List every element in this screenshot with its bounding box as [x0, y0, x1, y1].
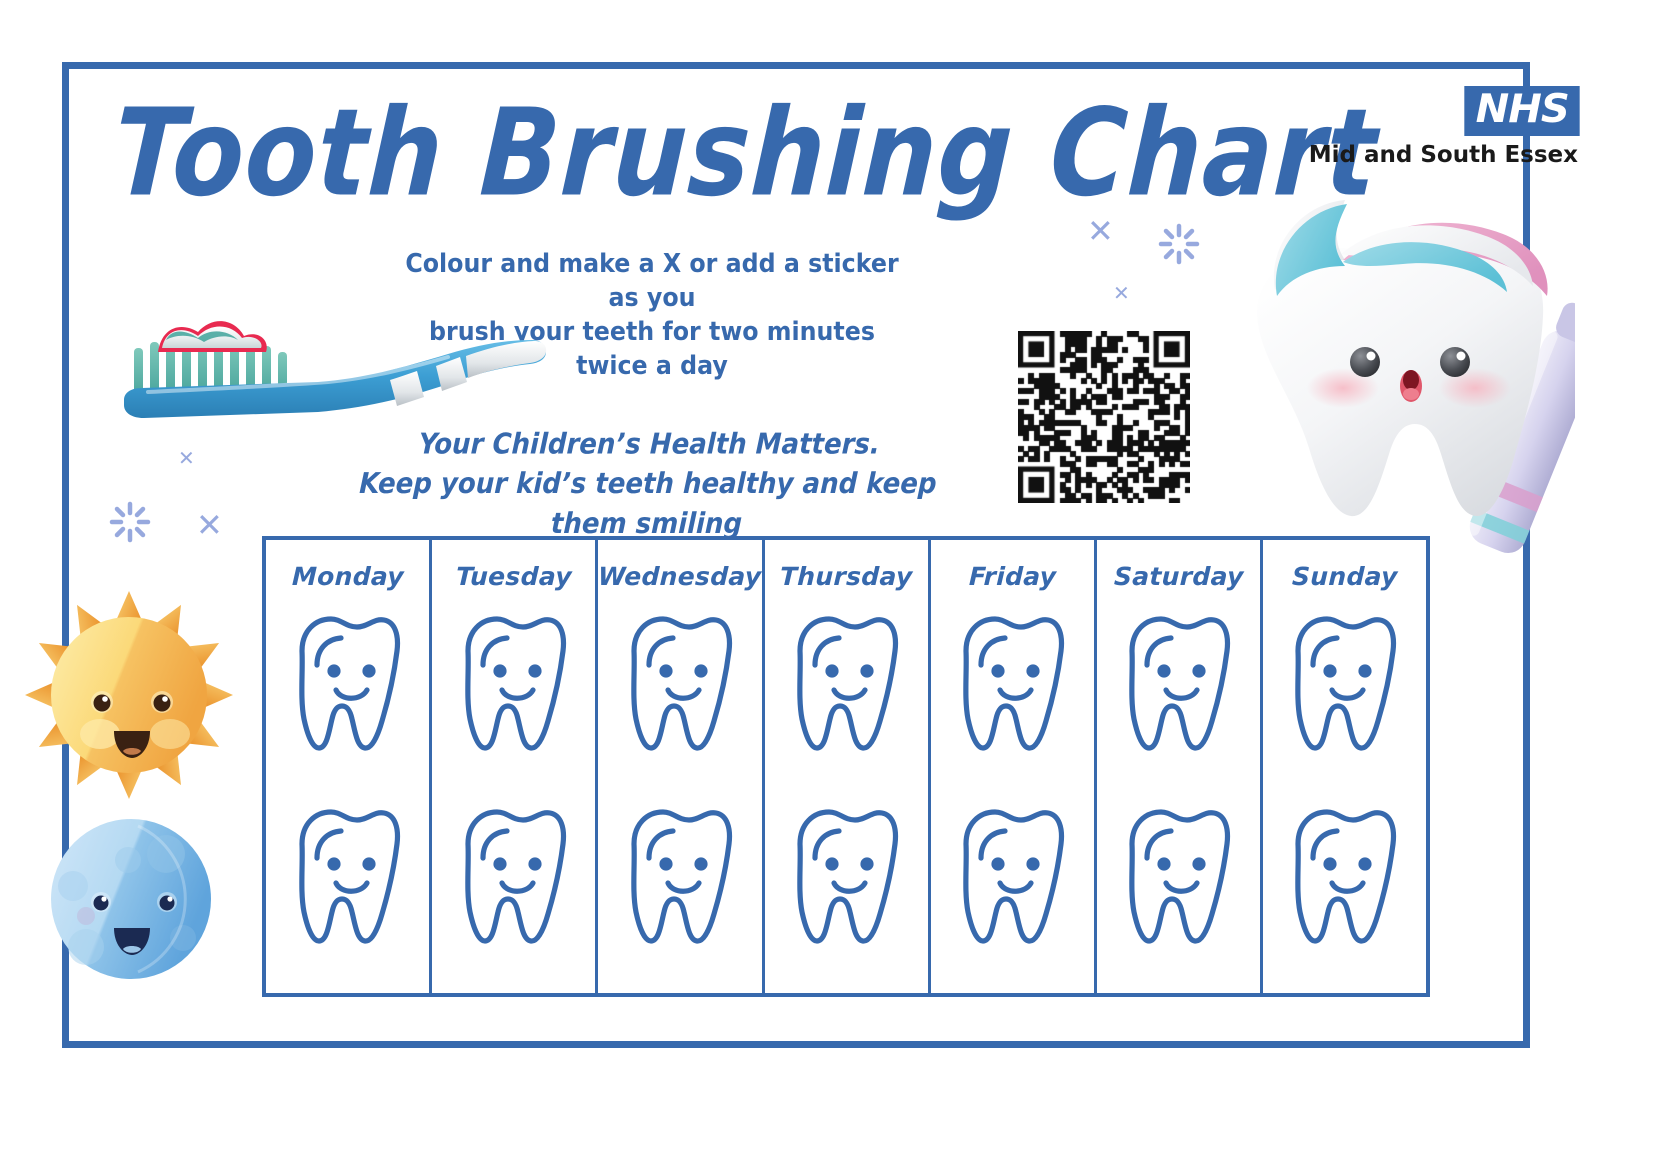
instruction-text: Colour and make a X or add a sticker as … [392, 247, 913, 383]
nhs-badge: NHS [1464, 86, 1580, 136]
tooth-checkbox-cell[interactable] [455, 609, 573, 762]
nhs-logo: NHS Mid and South Essex [1309, 86, 1578, 168]
day-column-wednesday: Wednesday [598, 540, 764, 993]
tooth-checkbox-cell[interactable] [1285, 802, 1403, 955]
day-column-tuesday: Tuesday [432, 540, 598, 993]
tooth-checkbox-cell[interactable] [621, 802, 739, 955]
day-header-label: Monday [291, 562, 404, 591]
tooth-outline-icon [621, 802, 739, 950]
day-column-monday: Monday [266, 540, 432, 993]
tooth-outline-icon [455, 609, 573, 757]
day-header-label: Wednesday [598, 562, 762, 591]
qr-code[interactable] [1018, 331, 1190, 503]
poster-page: Tooth Brushing Chart NHS Mid and South E… [0, 0, 1656, 1166]
day-header-label: Saturday [1113, 562, 1244, 591]
day-column-saturday: Saturday [1097, 540, 1263, 993]
tooth-checkbox-cell[interactable] [787, 802, 905, 955]
tooth-checkbox-cell[interactable] [953, 609, 1071, 762]
tooth-checkbox-cell[interactable] [1119, 609, 1237, 762]
day-header-label: Thursday [779, 562, 913, 591]
page-title: Tooth Brushing Chart [111, 82, 1381, 224]
tooth-outline-icon [455, 802, 573, 950]
instruction-line-1: Colour and make a X or add a sticker as … [392, 247, 913, 315]
day-column-sunday: Sunday [1263, 540, 1426, 993]
tooth-outline-icon [1119, 609, 1237, 757]
tooth-outline-icon [621, 609, 739, 757]
day-header-label: Friday [968, 562, 1056, 591]
tooth-checkbox-cell[interactable] [1119, 802, 1237, 955]
tooth-outline-icon [289, 802, 407, 950]
tooth-checkbox-cell[interactable] [953, 802, 1071, 955]
tooth-checkbox-cell[interactable] [787, 609, 905, 762]
tooth-outline-icon [1119, 802, 1237, 950]
tooth-outline-icon [289, 609, 407, 757]
tagline-line-2: Keep your kid’s teeth healthy and keep t… [316, 465, 979, 544]
tooth-outline-icon [953, 609, 1071, 757]
tooth-outline-icon [1285, 609, 1403, 757]
tooth-outline-icon [1285, 802, 1403, 950]
tagline-line-1: Your Children’s Health Matters. [319, 425, 980, 465]
tooth-checkbox-cell[interactable] [621, 609, 739, 762]
instruction-line-2: brush your teeth for two minutes twice a… [392, 315, 913, 383]
tooth-checkbox-cell[interactable] [289, 609, 407, 762]
tooth-checkbox-cell[interactable] [289, 802, 407, 955]
tooth-outline-icon [787, 609, 905, 757]
brushing-chart-grid: Monday Tuesday [262, 536, 1430, 997]
day-column-friday: Friday [931, 540, 1097, 993]
tooth-checkbox-cell[interactable] [1285, 609, 1403, 762]
tooth-outline-icon [787, 802, 905, 950]
tooth-checkbox-cell[interactable] [455, 802, 573, 955]
tooth-outline-icon [953, 802, 1071, 950]
day-column-thursday: Thursday [765, 540, 931, 993]
nhs-trust-name: Mid and South Essex [1309, 142, 1578, 168]
day-header-label: Tuesday [455, 562, 572, 591]
day-header-label: Sunday [1291, 562, 1398, 591]
tagline-text: Your Children’s Health Matters. Keep you… [316, 425, 980, 544]
